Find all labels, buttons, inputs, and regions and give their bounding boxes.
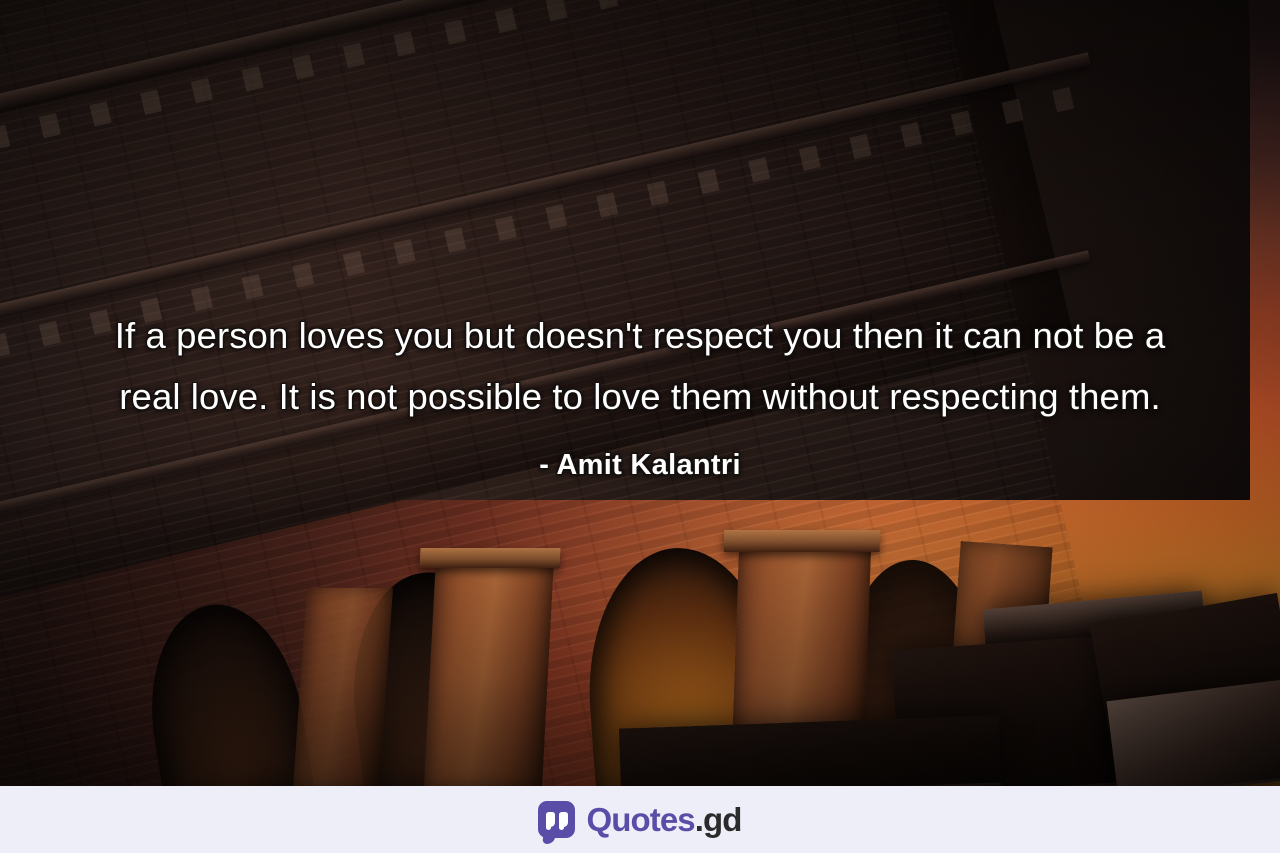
quote-author: - Amit Kalantri [539,449,741,482]
logo-tld: .gd [695,801,742,838]
quote-bubble-icon [538,801,575,838]
background-photo: If a person loves you but doesn't respec… [0,0,1280,786]
logo-name: Quotes [586,801,694,838]
footer-bar: Quotes.gd [0,786,1280,853]
quote-mark-left [546,812,555,827]
quote-text: If a person loves you but doesn't respec… [95,305,1185,427]
quote-image-page: If a person loves you but doesn't respec… [0,0,1280,853]
site-logo[interactable]: Quotes.gd [538,801,741,838]
quote-mark-right [559,812,568,827]
quote-overlay: If a person loves you but doesn't respec… [0,0,1280,786]
logo-wordmark: Quotes.gd [586,803,741,836]
